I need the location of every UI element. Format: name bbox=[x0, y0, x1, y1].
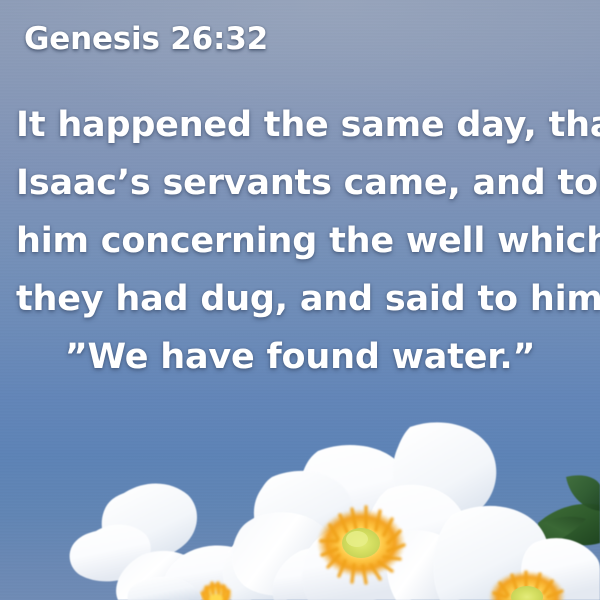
scripture-verse-image: Genesis 26:32 It happened the same day, … bbox=[0, 0, 600, 600]
verse-text-block: It happened the same day, that Isaac’s s… bbox=[16, 96, 584, 386]
verse-line-3: him concerning the well which bbox=[16, 212, 584, 270]
verse-line-5: ”We have found water.” bbox=[16, 328, 584, 386]
verse-line-2: Isaac’s servants came, and told bbox=[16, 154, 584, 212]
verse-line-4: they had dug, and said to him, bbox=[16, 270, 584, 328]
verse-line-1: It happened the same day, that bbox=[16, 96, 584, 154]
text-layer: Genesis 26:32 It happened the same day, … bbox=[0, 0, 600, 600]
verse-reference-title: Genesis 26:32 bbox=[24, 21, 268, 57]
